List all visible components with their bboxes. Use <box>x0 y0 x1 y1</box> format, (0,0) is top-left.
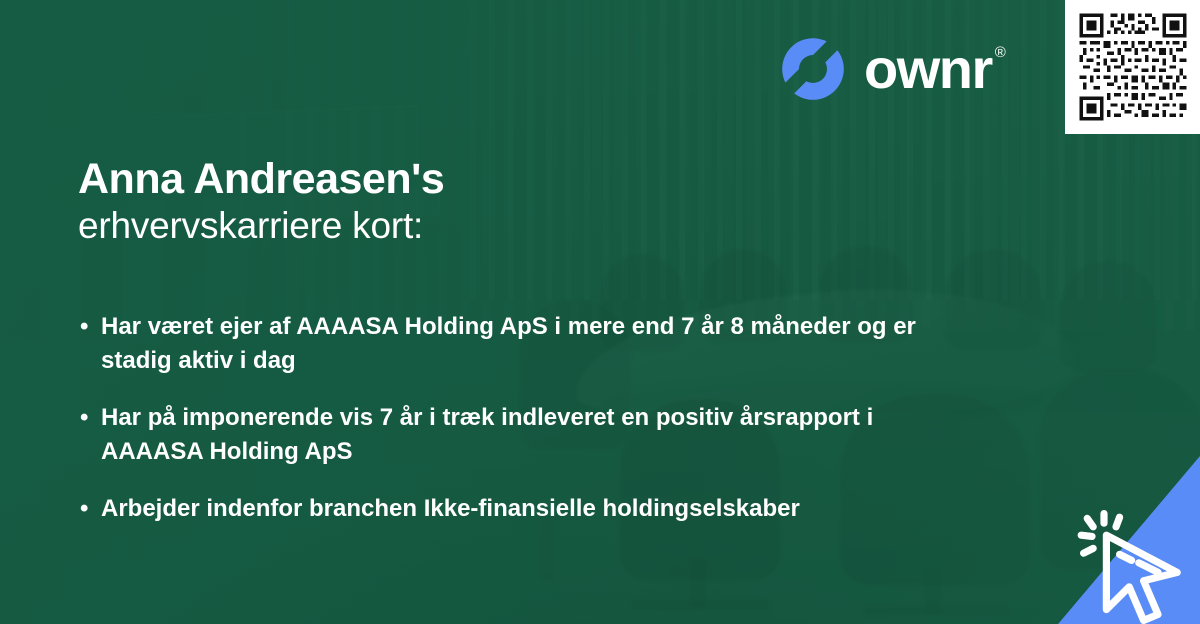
ownr-logo[interactable]: ownr ® <box>778 34 1004 104</box>
qr-code-panel[interactable] <box>1065 0 1200 134</box>
page-title: Anna Andreasen's erhvervskarriere kort: <box>78 155 444 249</box>
person-name: Anna Andreasen's <box>78 155 444 203</box>
list-item: Har været ejer af AAAASA Holding ApS i m… <box>78 310 958 378</box>
ownr-wordmark-text: ownr <box>864 41 992 97</box>
registered-mark: ® <box>995 45 1005 60</box>
ownr-circle-slash-icon <box>778 34 848 104</box>
qr-code-icon <box>1076 10 1190 124</box>
list-item: Arbejder indenfor branchen Ikke-finansie… <box>78 492 958 526</box>
ownr-wordmark: ownr ® <box>864 41 1004 97</box>
page-subtitle: erhvervskarriere kort: <box>78 203 444 249</box>
career-card: ownr ® <box>0 0 1200 624</box>
list-item: Har på imponerende vis 7 år i træk indle… <box>78 401 958 469</box>
career-facts-list: Har været ejer af AAAASA Holding ApS i m… <box>78 310 998 526</box>
